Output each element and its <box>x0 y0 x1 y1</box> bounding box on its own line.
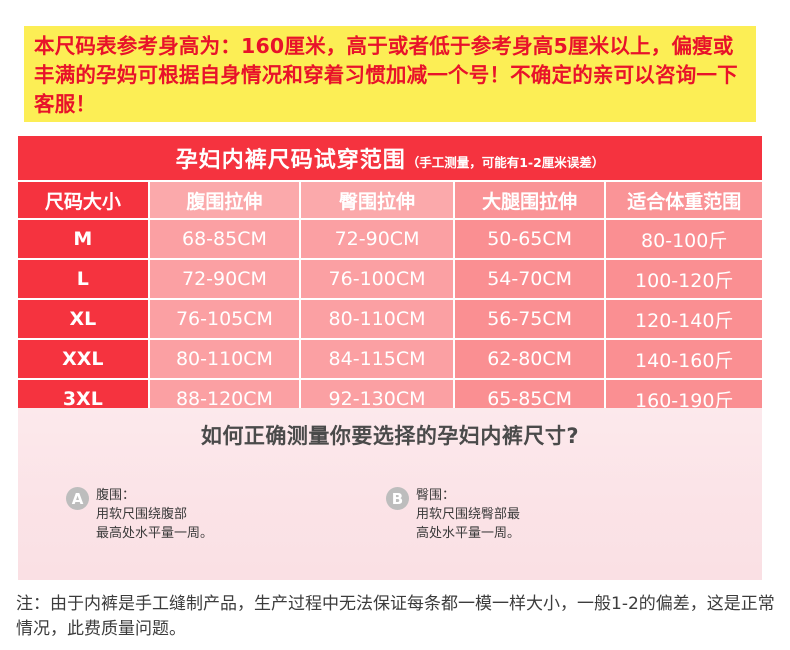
footer-note: 注：由于内裤是手工缝制产品，生产过程中无法保证每条都一模一样大小，一般1-2的偏… <box>16 592 776 642</box>
cell-belly: 72-90CM <box>150 260 300 298</box>
size-chart-page: 本尺码表参考身高为：160厘米，高于或者低于参考身高5厘米以上，偏瘦或丰满的孕妈… <box>0 0 790 650</box>
cell-hip: 72-90CM <box>301 220 453 258</box>
measure-guide-panel: 如何正确测量你要选择的孕妇内裤尺寸? A 腹围： 用软尺围绕腹部 最高处水平量一… <box>18 408 762 580</box>
cell-size: L <box>18 260 148 298</box>
cell-size: XXL <box>18 340 148 378</box>
cell-thigh: 50-65CM <box>455 220 605 258</box>
column-header-size: 尺码大小 <box>18 182 148 218</box>
cell-belly: 68-85CM <box>150 220 300 258</box>
cell-thigh: 54-70CM <box>455 260 605 298</box>
column-header-thigh: 大腿围拉伸 <box>455 182 605 218</box>
cell-belly: 80-110CM <box>150 340 300 378</box>
table-title: 孕妇内裤尺码试穿范围 <box>176 142 406 174</box>
measure-item-hip-text: 臀围： 用软尺围绕臀部最 高处水平量一周。 <box>416 486 520 543</box>
column-header-weight: 适合体重范围 <box>606 182 762 218</box>
table-title-bar: 孕妇内裤尺码试穿范围 （手工测量，可能有1-2厘米误差） <box>18 136 762 180</box>
badge-a-icon: A <box>66 487 89 510</box>
cell-thigh: 62-80CM <box>455 340 605 378</box>
notice-text: 本尺码表参考身高为：160厘米，高于或者低于参考身高5厘米以上，偏瘦或丰满的孕妈… <box>34 32 746 119</box>
measure-item-hip: B 臀围： 用软尺围绕臀部最 高处水平量一周。 <box>386 486 520 543</box>
table-header-row: 尺码大小 腹围拉伸 臀围拉伸 大腿围拉伸 适合体重范围 <box>18 182 762 218</box>
cell-thigh: 56-75CM <box>455 300 605 338</box>
cell-size: XL <box>18 300 148 338</box>
size-table: 孕妇内裤尺码试穿范围 （手工测量，可能有1-2厘米误差） 尺码大小 腹围拉伸 臀… <box>18 136 762 418</box>
cell-size: M <box>18 220 148 258</box>
column-header-belly: 腹围拉伸 <box>150 182 300 218</box>
cell-hip: 76-100CM <box>301 260 453 298</box>
badge-b-icon: B <box>386 487 409 510</box>
measure-heading: 如何正确测量你要选择的孕妇内裤尺寸? <box>18 408 762 450</box>
notice-banner: 本尺码表参考身高为：160厘米，高于或者低于参考身高5厘米以上，偏瘦或丰满的孕妈… <box>24 26 756 122</box>
cell-weight: 80-100斤 <box>606 220 762 258</box>
table-row: XL 76-105CM 80-110CM 56-75CM 120-140斤 <box>18 300 762 338</box>
cell-weight: 100-120斤 <box>606 260 762 298</box>
cell-weight: 120-140斤 <box>606 300 762 338</box>
measure-item-belly-text: 腹围： 用软尺围绕腹部 最高处水平量一周。 <box>96 486 213 543</box>
measure-item-belly: A 腹围： 用软尺围绕腹部 最高处水平量一周。 <box>66 486 213 543</box>
cell-hip: 84-115CM <box>301 340 453 378</box>
table-subtitle: （手工测量，可能有1-2厘米误差） <box>407 152 605 171</box>
table-row: XXL 80-110CM 84-115CM 62-80CM 140-160斤 <box>18 340 762 378</box>
cell-belly: 76-105CM <box>150 300 300 338</box>
column-header-hip: 臀围拉伸 <box>301 182 453 218</box>
cell-hip: 80-110CM <box>301 300 453 338</box>
table-row: M 68-85CM 72-90CM 50-65CM 80-100斤 <box>18 220 762 258</box>
cell-weight: 140-160斤 <box>606 340 762 378</box>
table-row: L 72-90CM 76-100CM 54-70CM 100-120斤 <box>18 260 762 298</box>
